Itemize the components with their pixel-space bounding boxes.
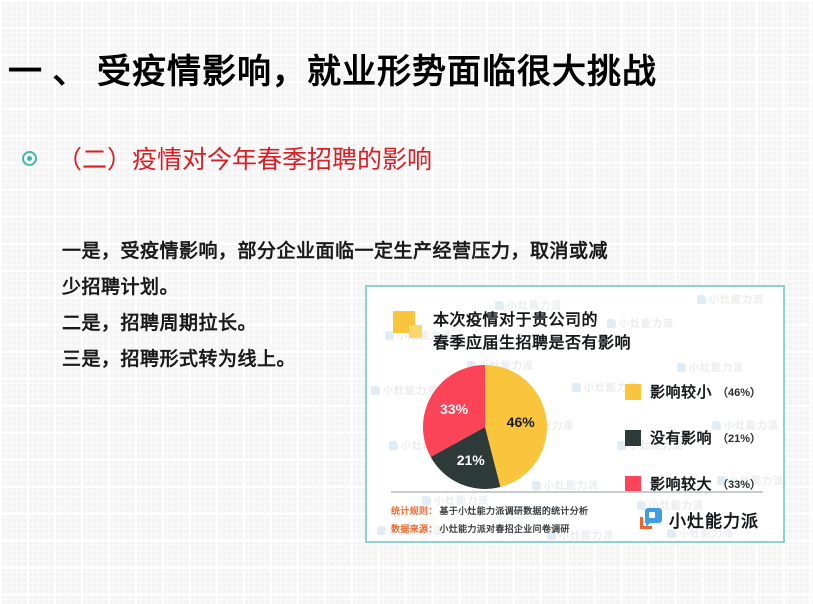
pie-slice-label: 46%: [507, 414, 535, 430]
footer-source-value: 小灶能力派对春招企业问卷调研: [440, 524, 570, 534]
legend-label: 没有影响: [650, 427, 712, 448]
footer-rule-key: 统计规则：: [391, 506, 438, 516]
chart-title: 本次疫情对于贵公司的 春季应届生招聘是否有影响: [433, 309, 783, 355]
legend-label: 影响较小: [650, 381, 712, 402]
slide-root: 一 、 受疫情影响，就业形势面临很大挑战 （二）疫情对今年春季招聘的影响 一是，…: [0, 0, 813, 604]
legend-percent: （46%）: [717, 384, 761, 400]
legend-percent: （33%）: [717, 476, 761, 492]
legend-swatch: [625, 476, 641, 492]
chart-card-footer: 统计规则：基于小灶能力派调研数据的统计分析 数据来源：小灶能力派对春招企业问卷调…: [391, 501, 765, 537]
watermark-text: 小灶能力派: [677, 359, 744, 374]
pie-slice-label: 33%: [440, 401, 468, 417]
chart-title-line: 本次疫情对于贵公司的: [433, 312, 598, 329]
brand-name: 小灶能力派: [669, 507, 759, 532]
chart-title-line: 春季应届生招聘是否有影响: [433, 335, 631, 352]
speech-bubble-logo-icon: [640, 508, 662, 530]
body-line: 一是，受疫情影响，部分企业面临一定生产经营压力，取消或减: [62, 234, 722, 270]
subheading-row: （二）疫情对今年春季招聘的影响: [22, 140, 432, 176]
yellow-squares-icon: [393, 311, 427, 343]
footer-divider: [391, 491, 763, 493]
watermark-text: 小灶能力派: [697, 291, 764, 306]
legend-swatch: [625, 430, 641, 446]
chart-legend: 影响较小（46%）没有影响（21%）影响较大（33%）: [625, 381, 761, 519]
footer-rule-line: 统计规则：基于小灶能力派调研数据的统计分析: [391, 506, 588, 516]
legend-item[interactable]: 影响较小（46%）: [625, 381, 761, 402]
footer-source-key: 数据来源：: [391, 524, 438, 534]
legend-item[interactable]: 没有影响（21%）: [625, 427, 761, 448]
footer-source-line: 数据来源：小灶能力派对春招企业问卷调研: [391, 524, 570, 534]
brand-lockup: 小灶能力派: [640, 507, 759, 532]
footer-notes: 统计规则：基于小灶能力派调研数据的统计分析 数据来源：小灶能力派对春招企业问卷调…: [391, 501, 640, 537]
page-title: 一 、 受疫情影响，就业形势面临很大挑战: [8, 44, 657, 93]
legend-percent: （21%）: [717, 430, 761, 446]
chart-card-header: 本次疫情对于贵公司的 春季应届生招聘是否有影响: [393, 309, 783, 355]
pie-slice-label: 21%: [457, 452, 485, 468]
subheading-text: （二）疫情对今年春季招聘的影响: [57, 140, 432, 176]
pie-chart: 46%21%33%: [423, 365, 547, 489]
legend-swatch: [625, 384, 641, 400]
chart-card: 小灶能力派小灶能力派小灶能力派小灶能力派小灶能力派小灶能力派小灶能力派小灶能力派…: [365, 285, 785, 543]
footer-rule-value: 基于小灶能力派调研数据的统计分析: [440, 506, 589, 516]
bullseye-bullet-icon: [22, 151, 37, 166]
